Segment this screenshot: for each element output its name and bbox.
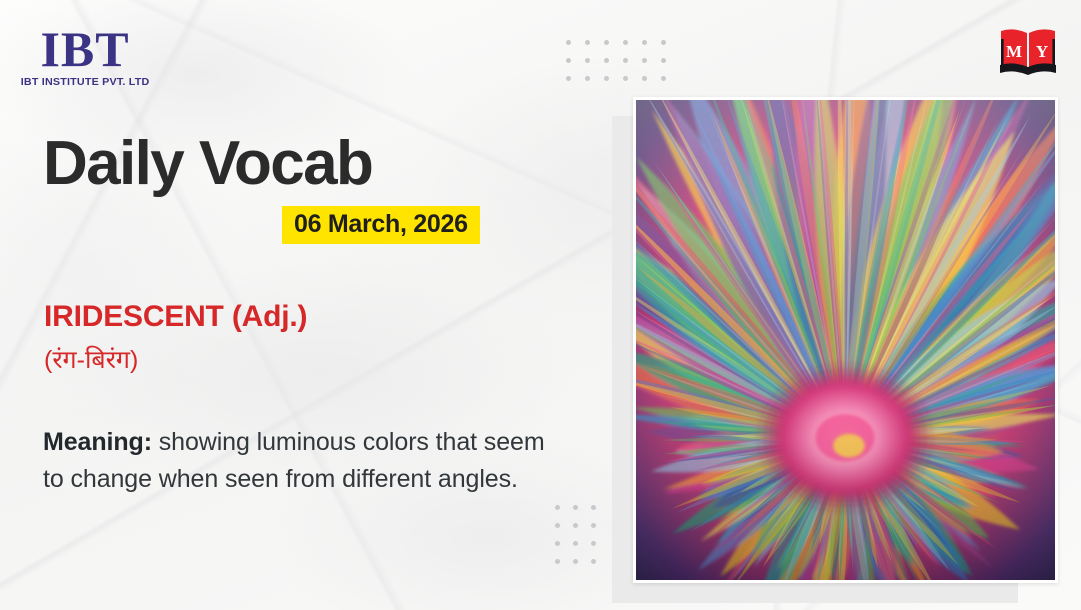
decor-dot [642, 40, 647, 45]
ibt-logo: IBT IBT INSTITUTE PVT. LTD [22, 24, 148, 88]
decor-dot [566, 40, 571, 45]
iridescent-flower-illustration [636, 100, 1055, 580]
open-book-icon: M Y [997, 25, 1059, 79]
vocab-word-hindi: (रंग-बिरंग) [44, 346, 138, 375]
dot-grid-top [566, 40, 680, 94]
my-letter-m: M [1006, 42, 1022, 61]
decor-dot [573, 541, 578, 546]
my-letter-y: Y [1036, 42, 1048, 61]
my-book-logo: M Y [997, 25, 1059, 79]
page-title: Daily Vocab [43, 133, 372, 195]
vocab-word: IRIDESCENT (Adj.) [44, 302, 307, 332]
decor-dot [623, 58, 628, 63]
decor-dot [555, 523, 560, 528]
feature-image [636, 100, 1055, 580]
decor-dot [661, 58, 666, 63]
date-badge: 06 March, 2026 [282, 206, 480, 244]
decor-dot [604, 76, 609, 81]
decor-dot [573, 523, 578, 528]
decor-dot [623, 40, 628, 45]
decor-dot [661, 40, 666, 45]
decor-dot [555, 505, 560, 510]
decor-dot [604, 40, 609, 45]
decor-dot [623, 76, 628, 81]
decor-dot [591, 523, 596, 528]
decor-dot [566, 76, 571, 81]
decor-dot [642, 76, 647, 81]
ibt-wordmark: IBT [22, 24, 148, 74]
decor-dot [573, 559, 578, 564]
poster-canvas: IBT IBT INSTITUTE PVT. LTD M Y Daily Voc… [0, 0, 1081, 610]
decor-dot [642, 58, 647, 63]
decor-dot [585, 40, 590, 45]
decor-dot [566, 58, 571, 63]
meaning-block: Meaning: showing luminous colors that se… [43, 424, 553, 497]
decor-dot [555, 541, 560, 546]
meaning-label: Meaning: [43, 428, 152, 456]
decor-dot [585, 58, 590, 63]
dot-grid-bottom [555, 505, 609, 577]
decor-dot [573, 505, 578, 510]
decor-dot [591, 559, 596, 564]
decor-dot [591, 505, 596, 510]
decor-dot [585, 76, 590, 81]
decor-dot [555, 559, 560, 564]
feature-image-frame [633, 97, 1058, 583]
decor-dot [591, 541, 596, 546]
ibt-tagline: IBT INSTITUTE PVT. LTD [21, 77, 150, 88]
decor-dot [661, 76, 666, 81]
decor-dot [604, 58, 609, 63]
